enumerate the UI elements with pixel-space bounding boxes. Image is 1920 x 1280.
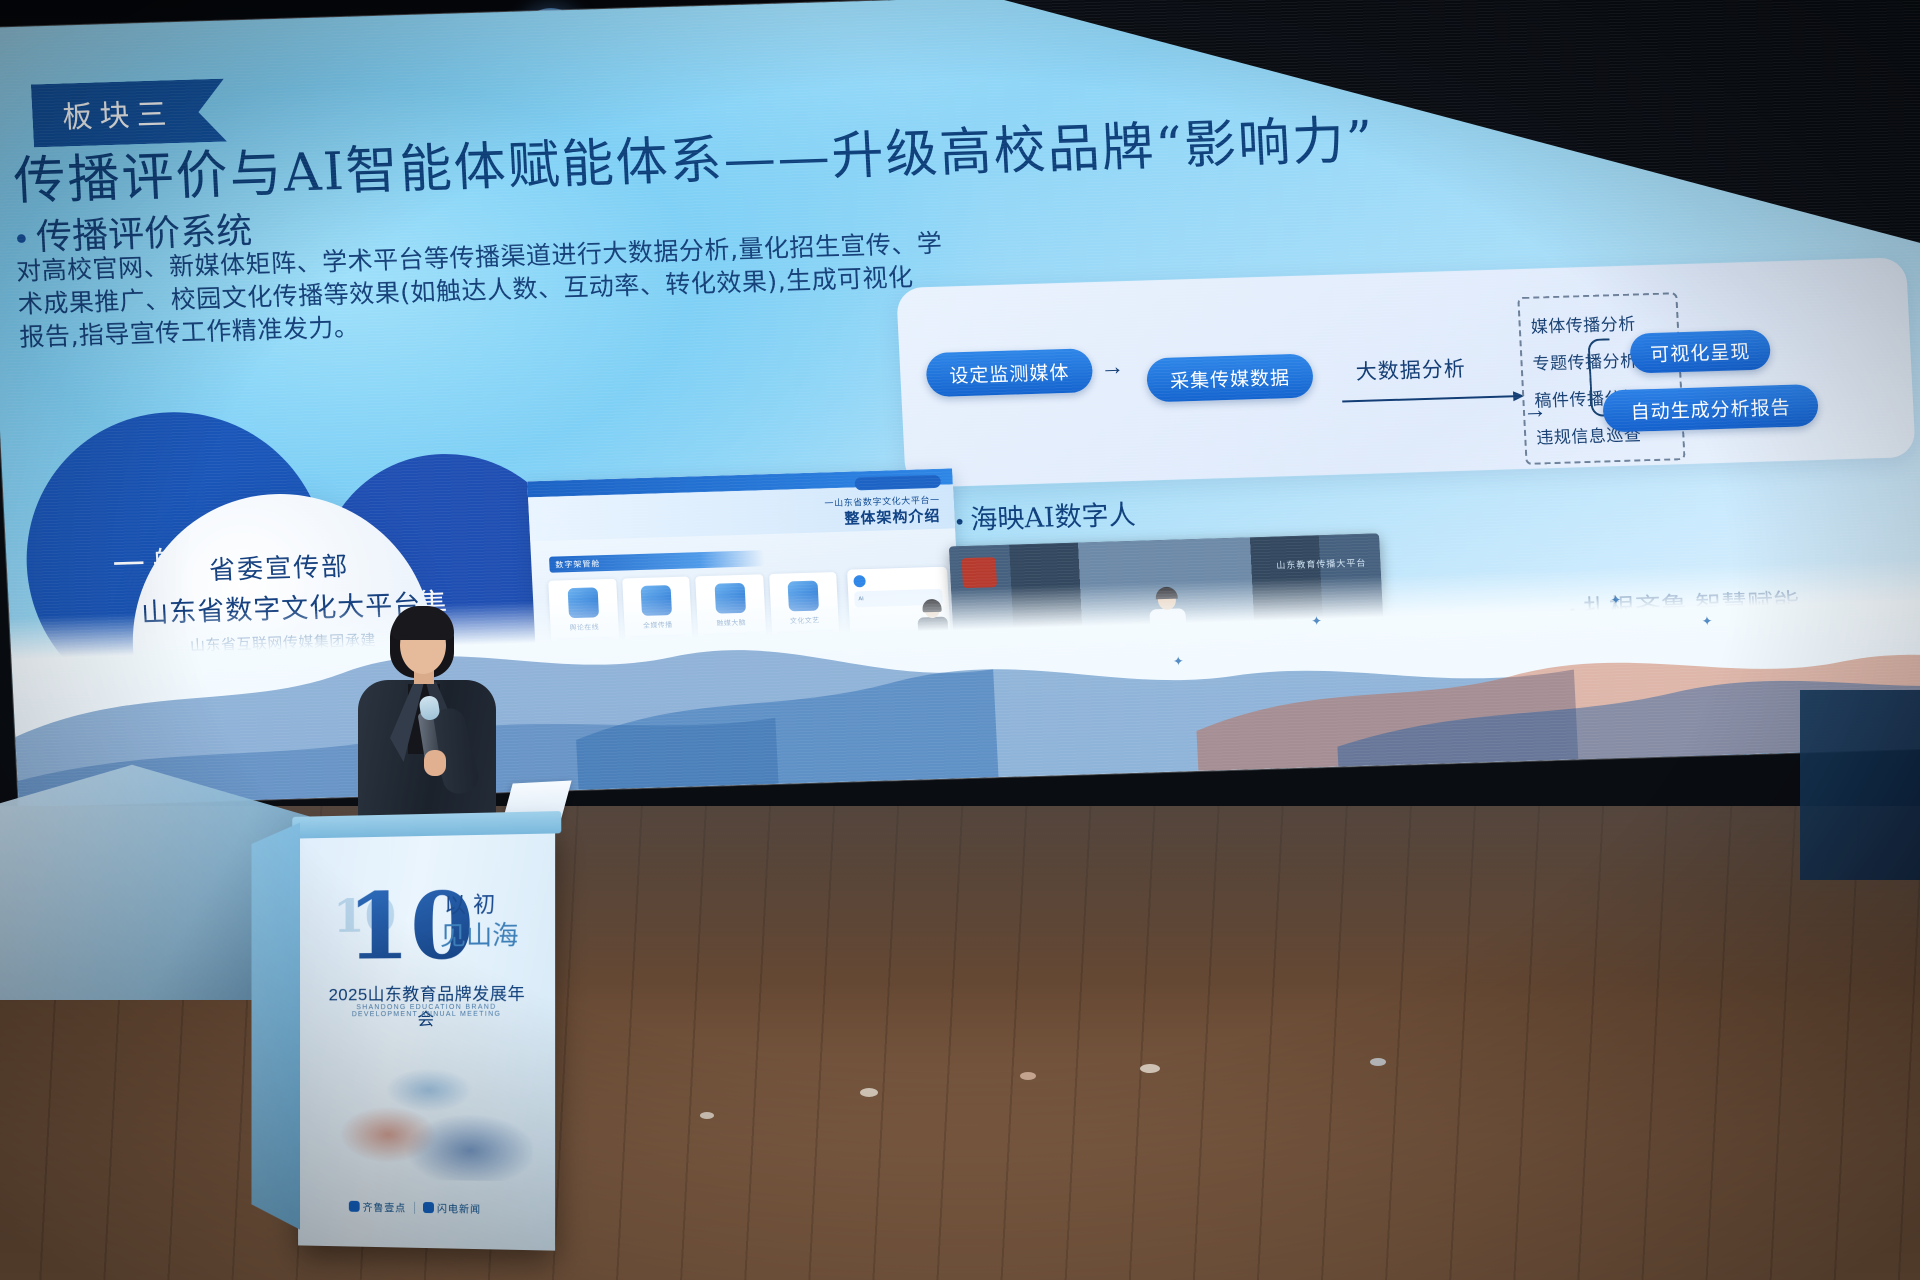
- panel-section-label-text: 数字架管舱: [555, 558, 601, 570]
- confetti-piece: [860, 1088, 878, 1097]
- podium-ink-art: [327, 1030, 532, 1182]
- section-ai-heading-text: 海映AI数字人: [970, 500, 1137, 536]
- calligraphy-line-2: 见山海: [440, 915, 519, 953]
- flow-long-arrow-icon: [1342, 395, 1522, 402]
- stage-scene: 板块三 传播评价与AI智能体赋能体系——升级高校品牌“影响力” •传播评价系统 …: [0, 0, 1920, 1280]
- qilu-logo-icon: [349, 1201, 360, 1212]
- podium-branding: 10 10 以 初 见山海 2025山东教育品牌发展年会 SHANDONG ED…: [320, 852, 533, 1155]
- bird-icon: ✦: [1311, 613, 1323, 629]
- panel-tab-pill: [854, 475, 941, 491]
- section-ai-heading: •海映AI数字人: [953, 485, 1385, 537]
- confetti-piece: [1140, 1064, 1160, 1073]
- flow-output-auto-report: 自动生成分析报告: [1602, 384, 1819, 433]
- logo-qilu-yidian: 齐鲁壹点: [349, 1199, 406, 1215]
- avatar: [853, 575, 866, 587]
- confetti-piece: [1370, 1058, 1386, 1066]
- center-line-1: 省委宣传部: [208, 546, 350, 587]
- podium-top-surface: [292, 811, 561, 839]
- flow-diagram-card: 设定监测媒体 → 采集传媒数据 大数据分析 媒体传播分析 专题传播分析 稿件传播…: [896, 257, 1916, 488]
- bullet-dot-icon: •: [12, 223, 31, 258]
- panel-header-title: 整体架构介绍: [844, 505, 941, 529]
- flow-process-label: 大数据分析: [1355, 353, 1466, 386]
- logo-shandian-news: 闪电新闻: [423, 1200, 481, 1216]
- podium-side-face: [252, 823, 300, 1230]
- arrow-right-icon: →: [1100, 353, 1125, 382]
- confetti-piece: [1020, 1072, 1036, 1080]
- live-badge: [962, 557, 997, 588]
- logo-shandian-label: 闪电新闻: [437, 1200, 481, 1216]
- bullet-dot-icon: •: [953, 510, 966, 534]
- bird-icon: ✦: [1173, 653, 1185, 669]
- shandian-logo-icon: [423, 1202, 434, 1213]
- flow-output-visualization: 可视化呈现: [1629, 329, 1771, 373]
- event-subtitle: SHANDONG EDUCATION BRAND DEVELOPMENT ANN…: [327, 1004, 526, 1019]
- bird-icon: ✦: [1610, 592, 1622, 608]
- confetti-piece: [700, 1112, 714, 1119]
- podium-logo-row: 齐鲁壹点 闪电新闻: [349, 1199, 481, 1216]
- video-watermark: 山东教育传播大平台: [1276, 556, 1367, 572]
- flow-step-collect-data: 采集传媒数据: [1146, 353, 1314, 402]
- led-screen: 板块三 传播评价与AI智能体赋能体系——升级高校品牌“影响力” •传播评价系统 …: [0, 0, 1920, 817]
- logo-qilu-label: 齐鲁壹点: [363, 1199, 406, 1215]
- podium: 10 10 以 初 见山海 2025山东教育品牌发展年会 SHANDONG ED…: [298, 825, 555, 1250]
- bird-icon: ✦: [1701, 613, 1713, 629]
- logo-divider: [414, 1201, 415, 1213]
- right-stage-wing: [1800, 690, 1920, 880]
- panel-section-label: 数字架管舱: [549, 550, 765, 573]
- flow-step-set-media: 设定监测媒体: [925, 348, 1093, 397]
- arrow-right-icon: →: [1522, 396, 1547, 425]
